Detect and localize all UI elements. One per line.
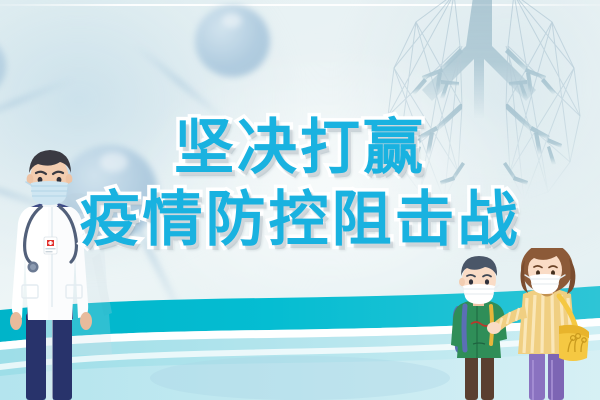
molecule-node [0,35,6,97]
mother-hand [487,322,501,334]
boy-eye [485,279,489,285]
boy-leg [465,354,478,400]
mother-leg [529,352,545,400]
doctor-leg [26,313,46,400]
mother-figure [487,248,589,400]
doctor-illustration [0,145,103,400]
doctor-hand [10,312,22,330]
molecule-bond [0,76,76,129]
family-illustration [447,248,600,400]
poster-canvas: 坚决打赢 疫情防控阻击战 [0,0,600,400]
molecule-highlight [222,13,242,28]
doctor-leg [52,313,72,400]
mother-leg [548,352,564,400]
doctor-hand [80,312,92,330]
boy-leg [481,354,494,400]
lungs-icon [358,0,600,221]
boy-eye [469,279,473,285]
doctor-coat-right [48,207,88,320]
doctor-mask [31,181,68,205]
molecule-highlight [100,152,128,172]
